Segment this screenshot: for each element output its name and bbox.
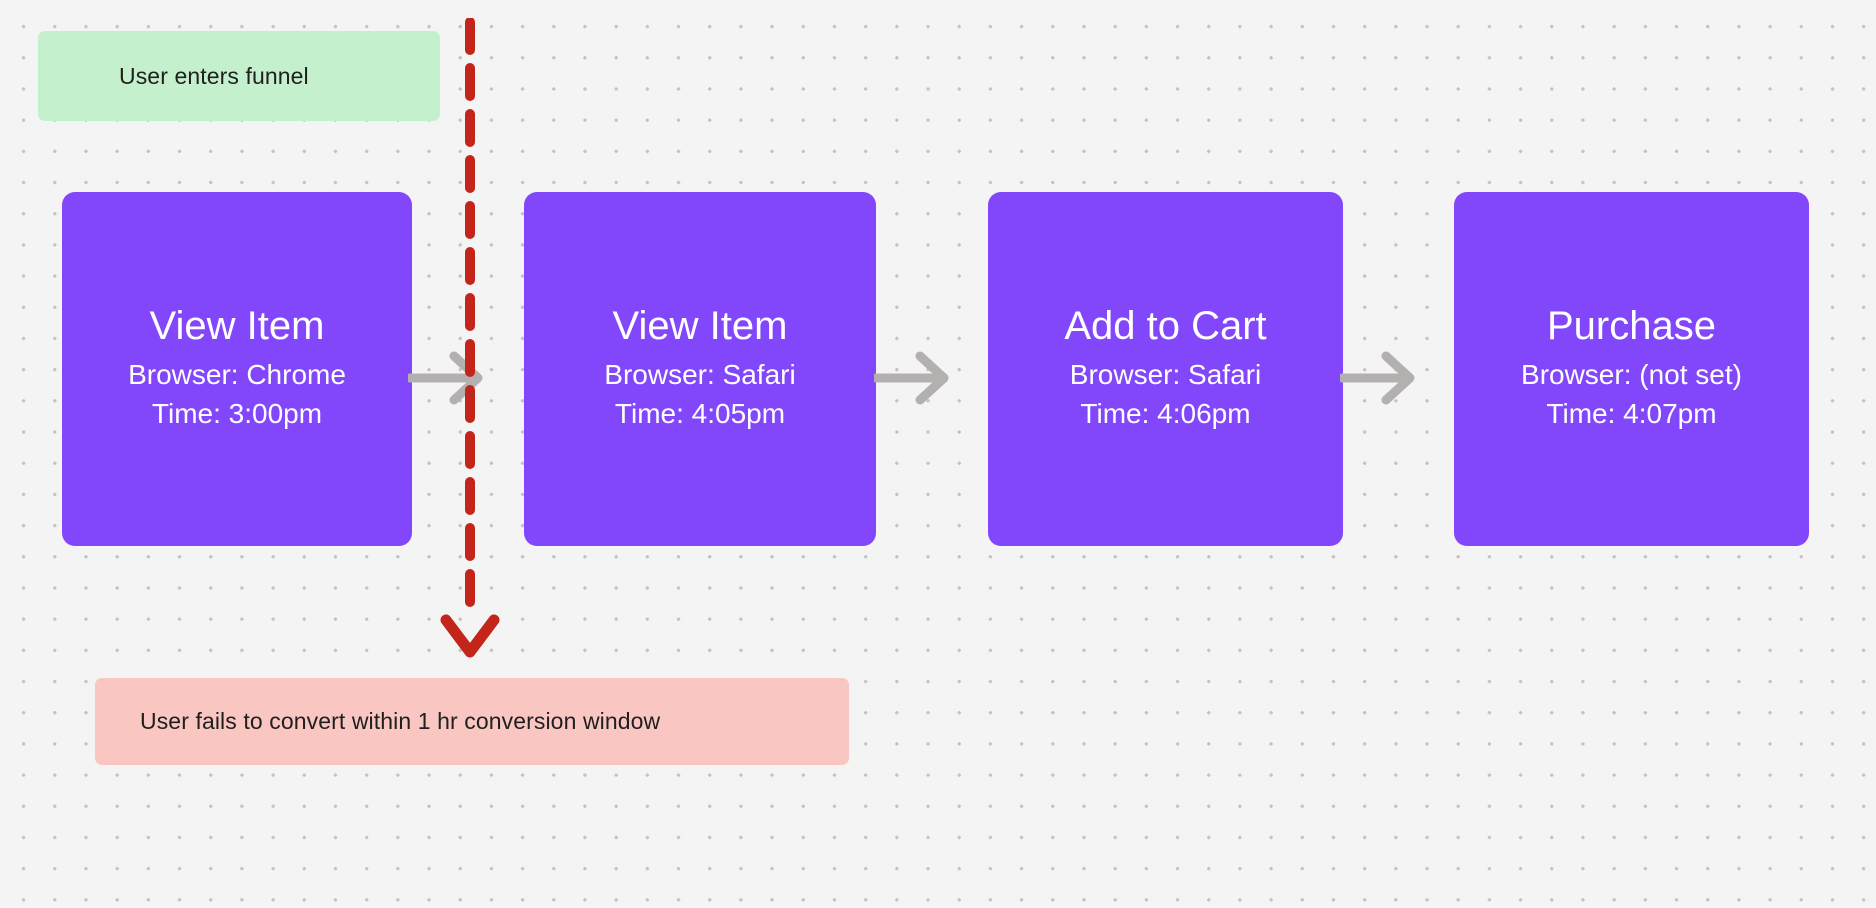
funnel-step-browser: Browser: Safari [604, 355, 795, 395]
funnel-step-browser: Browser: Safari [1070, 355, 1261, 395]
funnel-step-time: Time: 3:00pm [152, 394, 322, 434]
funnel-step-browser: Browser: Chrome [128, 355, 346, 395]
funnel-step-title: Purchase [1547, 304, 1716, 349]
funnel-step-card-4[interactable]: Purchase Browser: (not set) Time: 4:07pm [1454, 192, 1809, 546]
conversion-failure-note-label: User fails to convert within 1 hr conver… [140, 708, 660, 735]
entry-funnel-note-label: User enters funnel [119, 63, 309, 90]
funnel-step-title: View Item [150, 304, 325, 349]
entry-funnel-note[interactable]: User enters funnel [38, 31, 440, 121]
funnel-step-card-1[interactable]: View Item Browser: Chrome Time: 3:00pm [62, 192, 412, 546]
arrow-right-icon [874, 348, 958, 408]
diagram-canvas: User enters funnel View Item Browser: Ch… [0, 0, 1876, 908]
funnel-step-time: Time: 4:05pm [615, 394, 785, 434]
funnel-connector-3-4 [1340, 348, 1424, 408]
funnel-step-browser: Browser: (not set) [1521, 355, 1742, 395]
funnel-step-time: Time: 4:06pm [1080, 394, 1250, 434]
dashed-down-arrow-icon [438, 18, 508, 678]
funnel-connector-2-3 [874, 348, 958, 408]
funnel-step-card-3[interactable]: Add to Cart Browser: Safari Time: 4:06pm [988, 192, 1343, 546]
funnel-step-card-2[interactable]: View Item Browser: Safari Time: 4:05pm [524, 192, 876, 546]
dropout-divider [438, 18, 508, 678]
arrow-right-icon [1340, 348, 1424, 408]
funnel-step-title: View Item [613, 304, 788, 349]
funnel-step-time: Time: 4:07pm [1546, 394, 1716, 434]
conversion-failure-note[interactable]: User fails to convert within 1 hr conver… [95, 678, 849, 765]
funnel-step-title: Add to Cart [1064, 304, 1266, 349]
